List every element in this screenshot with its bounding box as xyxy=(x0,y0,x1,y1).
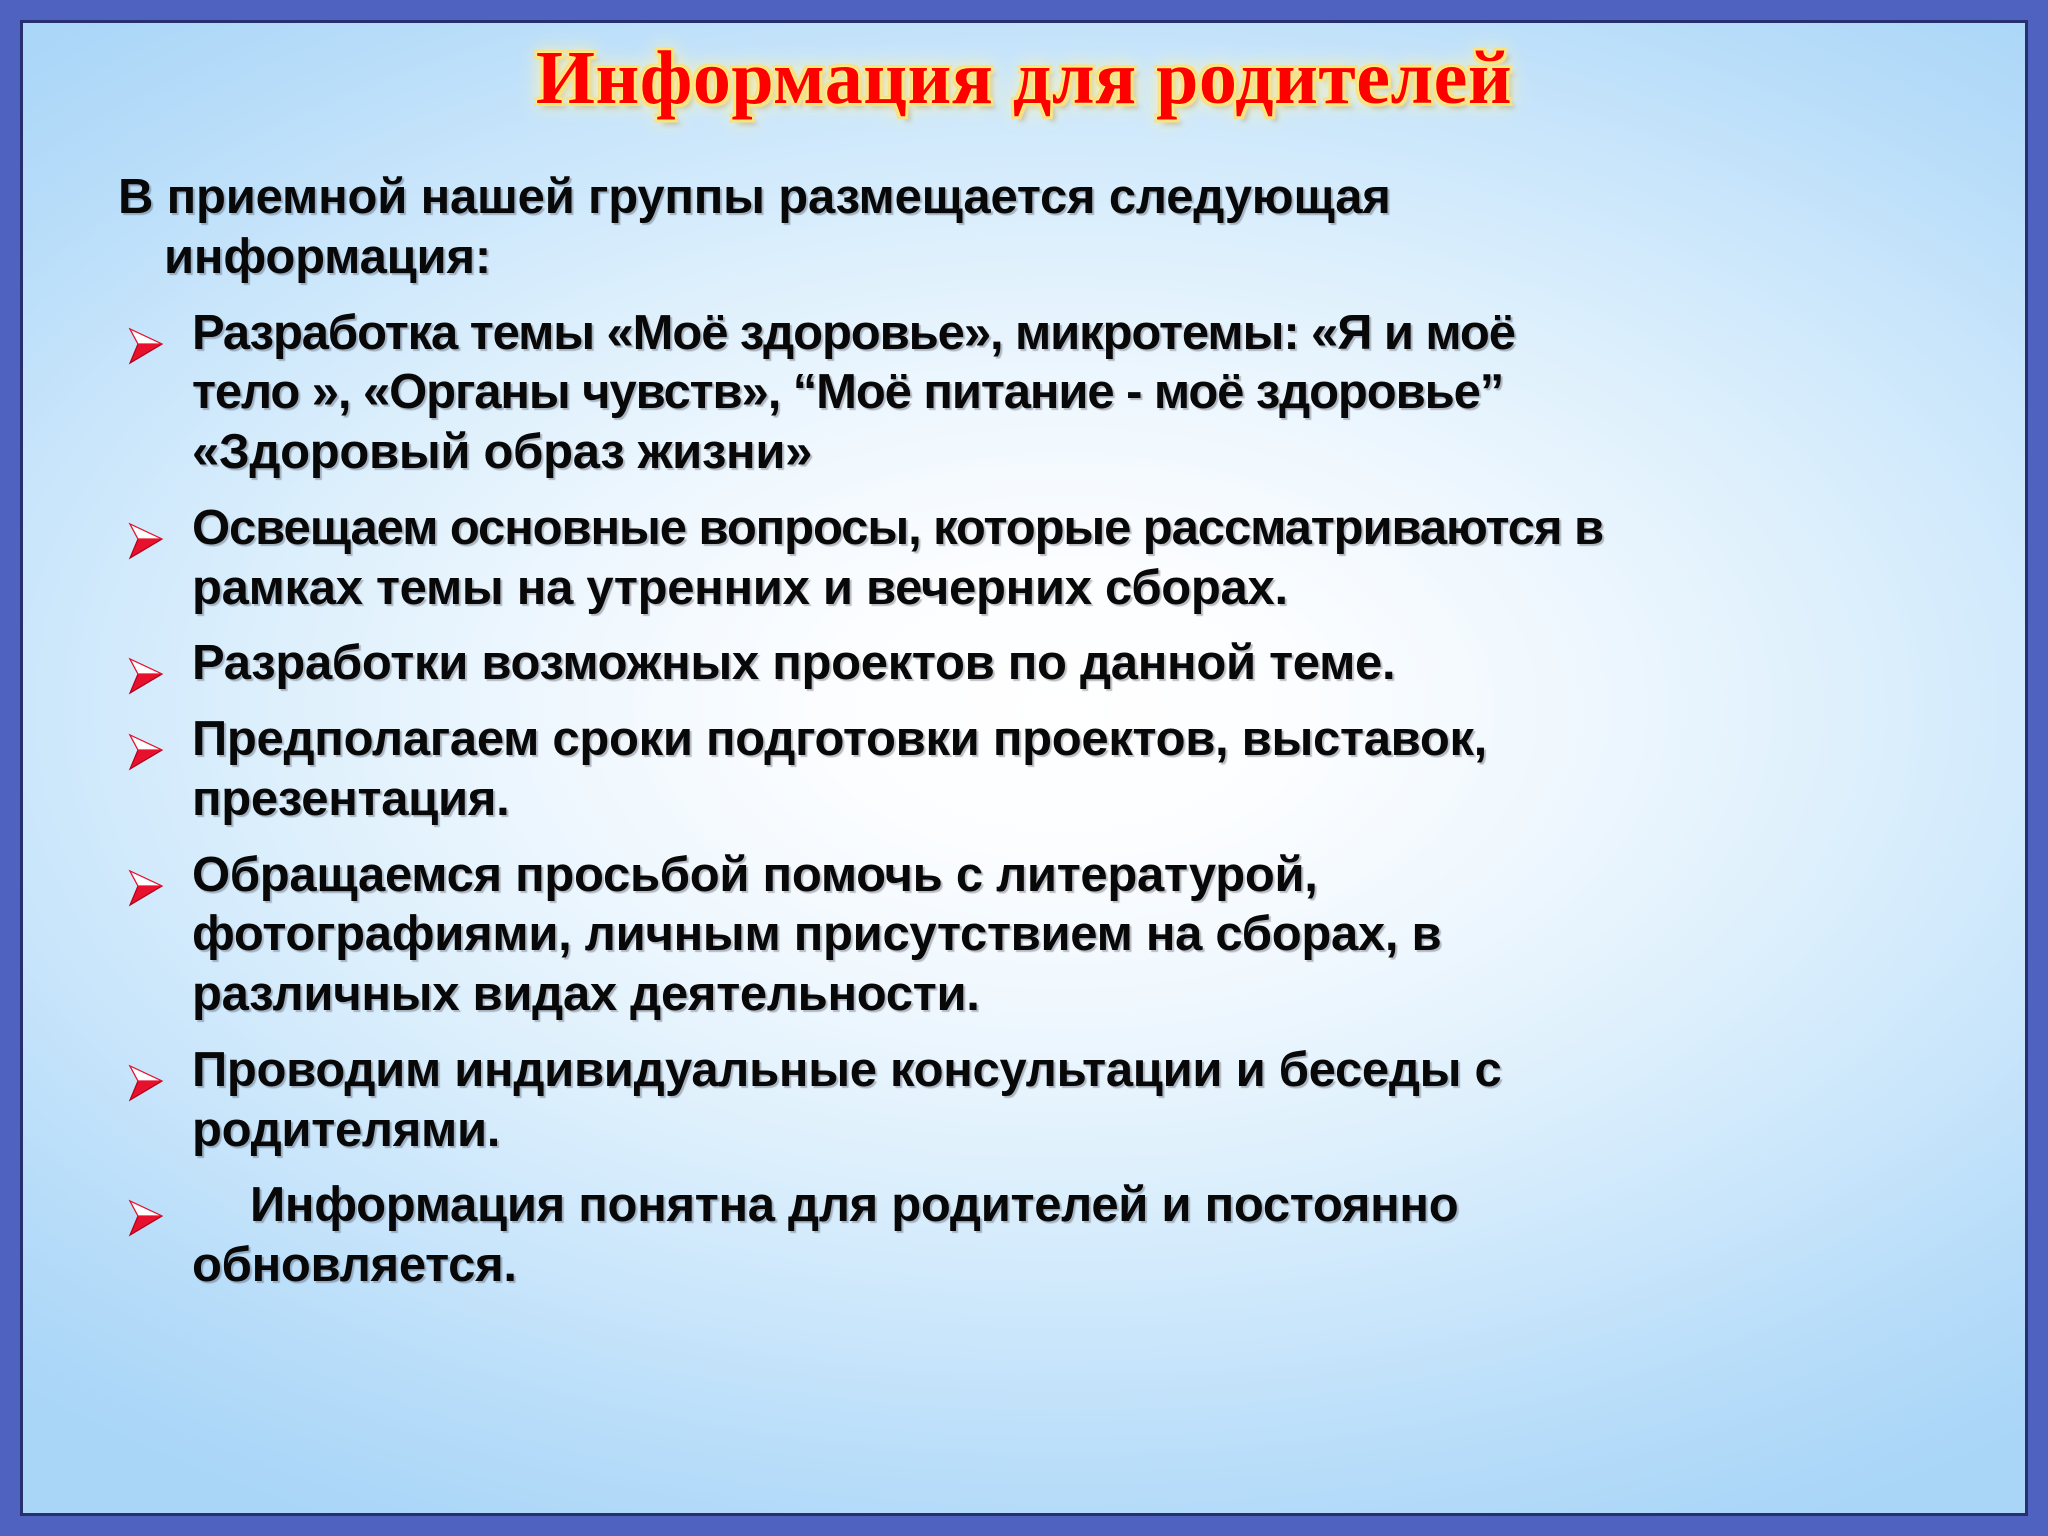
bullet-list: Разработка темы «Моё здоровье», микротем… xyxy=(118,304,1978,1296)
bullet-line: Информация понятна для родителей и посто… xyxy=(192,1176,1978,1236)
red-arrowhead-bullet-icon xyxy=(126,320,166,358)
bullet-line: обновляется. xyxy=(192,1236,1978,1296)
bullet-line: рамках темы на утренних и вечерних сбора… xyxy=(192,559,1978,619)
red-arrowhead-bullet-icon xyxy=(126,650,166,688)
bullet-line: Обращаемся просьбой помочь с литературой… xyxy=(192,846,1978,906)
lead-line-1: В приемной нашей группы размещается след… xyxy=(118,170,1391,224)
list-item: Освещаем основные вопросы, которые рассм… xyxy=(118,499,1978,619)
bullet-line: презентация. xyxy=(192,770,1978,830)
bullet-line: Проводим индивидуальные консультации и б… xyxy=(192,1041,1978,1101)
red-arrowhead-bullet-icon xyxy=(126,1192,166,1230)
bullet-line: родителями. xyxy=(192,1101,1978,1161)
lead-line-2: информация: xyxy=(118,228,1978,288)
slide-title-area: Информация для родителей xyxy=(23,40,2025,116)
bullet-line: различных видах деятельности. xyxy=(192,965,1978,1025)
bullet-line: Разработка темы «Моё здоровье», микротем… xyxy=(192,304,1978,364)
bullet-line: фотографиями, личным присутствием на сбо… xyxy=(192,905,1978,965)
list-item: Информация понятна для родителей и посто… xyxy=(118,1176,1978,1296)
list-item: Предполагаем сроки подготовки проектов, … xyxy=(118,710,1978,830)
bullet-line: Освещаем основные вопросы, которые рассм… xyxy=(192,499,1978,559)
page-title: Информация для родителей xyxy=(536,40,1512,116)
presentation-slide: Информация для родителей В приемной наше… xyxy=(0,0,2048,1536)
bullet-line: Разработки возможных проектов по данной … xyxy=(192,634,1978,694)
list-item: Проводим индивидуальные консультации и б… xyxy=(118,1041,1978,1161)
bullet-line: «Здоровый образ жизни» xyxy=(192,423,1978,483)
red-arrowhead-bullet-icon xyxy=(126,726,166,764)
red-arrowhead-bullet-icon xyxy=(126,1057,166,1095)
list-item: Обращаемся просьбой помочь с литературой… xyxy=(118,846,1978,1025)
bullet-line: Предполагаем сроки подготовки проектов, … xyxy=(192,710,1978,770)
bullet-line: тело », «Органы чувств», “Моё питание - … xyxy=(192,363,1978,423)
lead-paragraph: В приемной нашей группы размещается след… xyxy=(118,168,1978,288)
slide-body: В приемной нашей группы размещается след… xyxy=(118,168,1978,1312)
red-arrowhead-bullet-icon xyxy=(126,515,166,553)
list-item: Разработки возможных проектов по данной … xyxy=(118,634,1978,694)
list-item: Разработка темы «Моё здоровье», микротем… xyxy=(118,304,1978,483)
red-arrowhead-bullet-icon xyxy=(126,862,166,900)
